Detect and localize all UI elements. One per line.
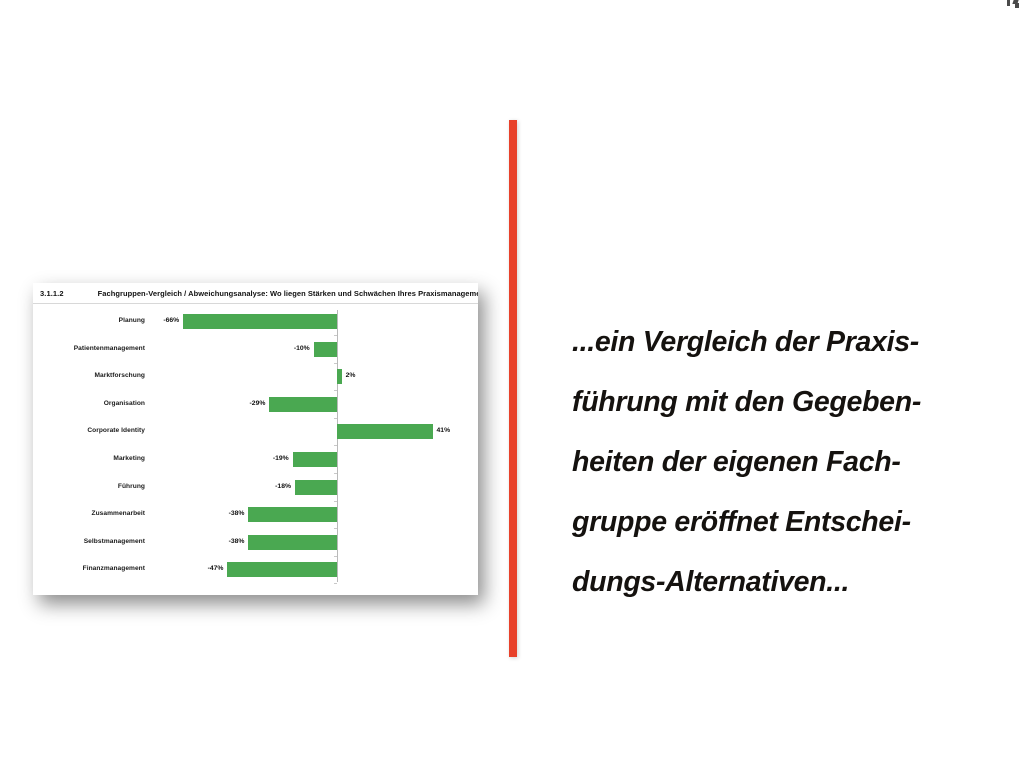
red-vertical-divider: [509, 120, 517, 657]
caption-line: ...ein Vergleich der Praxis-: [572, 312, 1002, 372]
artifact-blot-3: [1015, 3, 1019, 8]
chart-card: 3.1.1.2 Fachgruppen-Vergleich / Abweichu…: [33, 283, 478, 595]
chart-bar-row: Patientenmanagement-10%: [33, 336, 478, 364]
chart-bar-row: Führung-18%: [33, 474, 478, 502]
category-label: Planung: [33, 317, 145, 324]
caption-line: gruppe eröffnet Entschei-: [572, 492, 1002, 552]
chart-bar-row: Zusammenarbeit-38%: [33, 501, 478, 529]
chart-bar: [293, 452, 337, 467]
artifact-blot-1: [1007, 0, 1010, 6]
caption-line: dungs-Alternativen...: [572, 552, 1002, 612]
caption-text-block: ...ein Vergleich der Praxis- führung mit…: [572, 312, 1002, 612]
bar-value-label: -66%: [149, 317, 179, 324]
chart-bar-row: Corporate Identity41%: [33, 418, 478, 446]
bar-value-label: 2%: [346, 372, 356, 379]
bar-value-label: -18%: [261, 483, 291, 490]
chart-bar: [183, 314, 337, 329]
category-label: Organisation: [33, 400, 145, 407]
chart-bar: [248, 507, 337, 522]
caption-line: führung mit den Gegeben-: [572, 372, 1002, 432]
bar-value-label: -38%: [214, 538, 244, 545]
category-label: Marketing: [33, 455, 145, 462]
category-label: Marktforschung: [33, 372, 145, 379]
chart-bar-row: Marktforschung2%: [33, 363, 478, 391]
category-label: Finanzmanagement: [33, 565, 145, 572]
chart-bar-row: Planung-66%: [33, 308, 478, 336]
corner-artifact-mark: [1007, 0, 1021, 9]
chart-bar-row: Finanzmanagement-47%: [33, 556, 478, 584]
chart-bar: [337, 424, 433, 439]
bar-value-label: -38%: [214, 510, 244, 517]
chart-title-label: Fachgruppen-Vergleich / Abweichungsanaly…: [98, 289, 478, 298]
chart-bar: [269, 397, 337, 412]
chart-bar: [337, 369, 342, 384]
bar-value-label: -19%: [259, 455, 289, 462]
chart-bar: [248, 535, 337, 550]
bar-value-label: 41%: [437, 427, 451, 434]
chart-bar-row: Organisation-29%: [33, 391, 478, 419]
category-label: Corporate Identity: [33, 427, 145, 434]
category-label: Führung: [33, 483, 145, 490]
chart-bar: [295, 480, 337, 495]
bar-value-label: -47%: [193, 565, 223, 572]
bar-value-label: -29%: [235, 400, 265, 407]
chart-bar: [314, 342, 337, 357]
chart-bar-row: Marketing-19%: [33, 446, 478, 474]
bar-value-label: -10%: [280, 345, 310, 352]
chart-plot-area: Planung-66%Patientenmanagement-10%Marktf…: [33, 304, 478, 595]
caption-line: heiten der eigenen Fach-: [572, 432, 1002, 492]
chart-number-label: 3.1.1.2: [40, 289, 64, 298]
category-label: Selbstmanagement: [33, 538, 145, 545]
category-label: Zusammenarbeit: [33, 510, 145, 517]
chart-bar-row: Selbstmanagement-38%: [33, 529, 478, 557]
chart-bar: [227, 562, 337, 577]
chart-header: 3.1.1.2 Fachgruppen-Vergleich / Abweichu…: [33, 283, 478, 304]
category-label: Patientenmanagement: [33, 345, 145, 352]
